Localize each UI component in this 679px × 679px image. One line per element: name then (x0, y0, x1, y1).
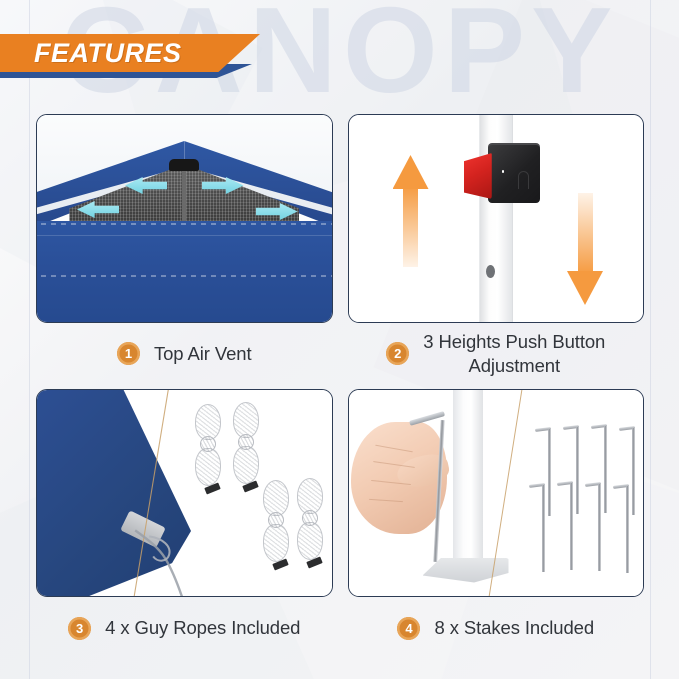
housing-slot (518, 171, 529, 189)
rope-knot (238, 434, 254, 450)
feature-card-3: 3 4 x Guy Ropes Included (36, 389, 333, 660)
rope-loop-top (263, 480, 289, 516)
arrow-head (567, 271, 603, 305)
header-ribbon: FEATURES (0, 34, 260, 72)
rope-loop-bottom (263, 524, 289, 562)
stake-shank (626, 486, 628, 573)
rope-loop-bottom (195, 448, 221, 486)
stake-shank (542, 485, 544, 572)
features-header-banner: FEATURES (0, 34, 260, 74)
stake-shank (433, 419, 444, 561)
feature-number-badge: 3 (68, 617, 91, 640)
stake-shank (632, 428, 634, 515)
height-arrow-up (393, 155, 429, 267)
feature-image-2 (348, 114, 645, 323)
feature-image-1 (36, 114, 333, 323)
rope-loop-top (195, 404, 221, 440)
stake-shank (576, 427, 578, 514)
feature-label: 8 x Stakes Included (434, 616, 594, 640)
feature-card-2: 2 3 Heights Push Button Adjustment (348, 114, 645, 385)
rope-loop-bottom (297, 522, 323, 560)
feature-label-line1: 3 Heights Push Button (423, 331, 605, 352)
feature-label-line2: Adjustment (468, 355, 560, 376)
canopy-leg-pole (453, 389, 483, 564)
guy-rope-bundle (233, 402, 259, 484)
height-arrow-down (567, 193, 603, 305)
stake-hook (409, 411, 445, 425)
stake-shank (604, 426, 606, 513)
feature-number-badge: 1 (117, 342, 140, 365)
rope-knot (200, 436, 216, 452)
feature-card-1: 1 Top Air Vent (36, 114, 333, 385)
rope-loop-bottom (233, 446, 259, 484)
feature-caption-1: 1 Top Air Vent (36, 323, 333, 385)
rope-loop-top (297, 478, 323, 514)
ground-stake (557, 478, 573, 570)
feature-caption-2: 2 3 Heights Push Button Adjustment (348, 323, 645, 385)
ground-stake (585, 479, 601, 571)
feature-caption-3: 3 4 x Guy Ropes Included (36, 597, 333, 659)
feature-caption-4: 4 8 x Stakes Included (348, 597, 645, 659)
arrow-shaft (578, 193, 593, 275)
feature-label: Top Air Vent (154, 342, 252, 366)
background-stripe (29, 0, 30, 679)
guy-rope-bundle (263, 480, 289, 562)
pole-height-hole (486, 265, 495, 278)
button-housing (488, 145, 540, 203)
feature-label: 4 x Guy Ropes Included (105, 616, 300, 640)
arrow-shaft (403, 185, 418, 267)
feature-grid: 1 Top Air Vent (36, 114, 644, 659)
feature-card-4: 4 8 x Stakes Included (348, 389, 645, 660)
vent-peak-cap (169, 159, 199, 171)
stake-shank (548, 429, 550, 516)
fabric-stitch-line (36, 275, 333, 277)
stake-shank (598, 484, 600, 571)
page-background: CANOPY FEATURES (0, 0, 679, 679)
fabric-seam (36, 235, 333, 236)
ground-stake (613, 481, 629, 573)
feature-number-badge: 2 (386, 342, 409, 365)
rope-loop-top (233, 402, 259, 438)
fabric-stitch-line (36, 223, 333, 225)
guy-rope-bundle (195, 404, 221, 486)
stake-shank (570, 483, 572, 570)
vent-center-strut (182, 165, 186, 221)
arrow-head (393, 155, 429, 189)
feature-number-badge: 4 (397, 617, 420, 640)
feature-label: 3 Heights Push Button Adjustment (423, 330, 605, 377)
ground-stake (529, 480, 545, 572)
rope-knot (302, 510, 318, 526)
housing-highlight-dot (502, 170, 505, 173)
background-stripe (650, 0, 651, 679)
feature-image-3 (36, 389, 333, 598)
page-title: FEATURES (0, 38, 182, 69)
canopy-fabric-body (36, 221, 333, 323)
feature-image-4 (348, 389, 645, 598)
guy-rope-bundle (297, 478, 323, 560)
held-stake (405, 412, 449, 562)
rope-knot (268, 512, 284, 528)
